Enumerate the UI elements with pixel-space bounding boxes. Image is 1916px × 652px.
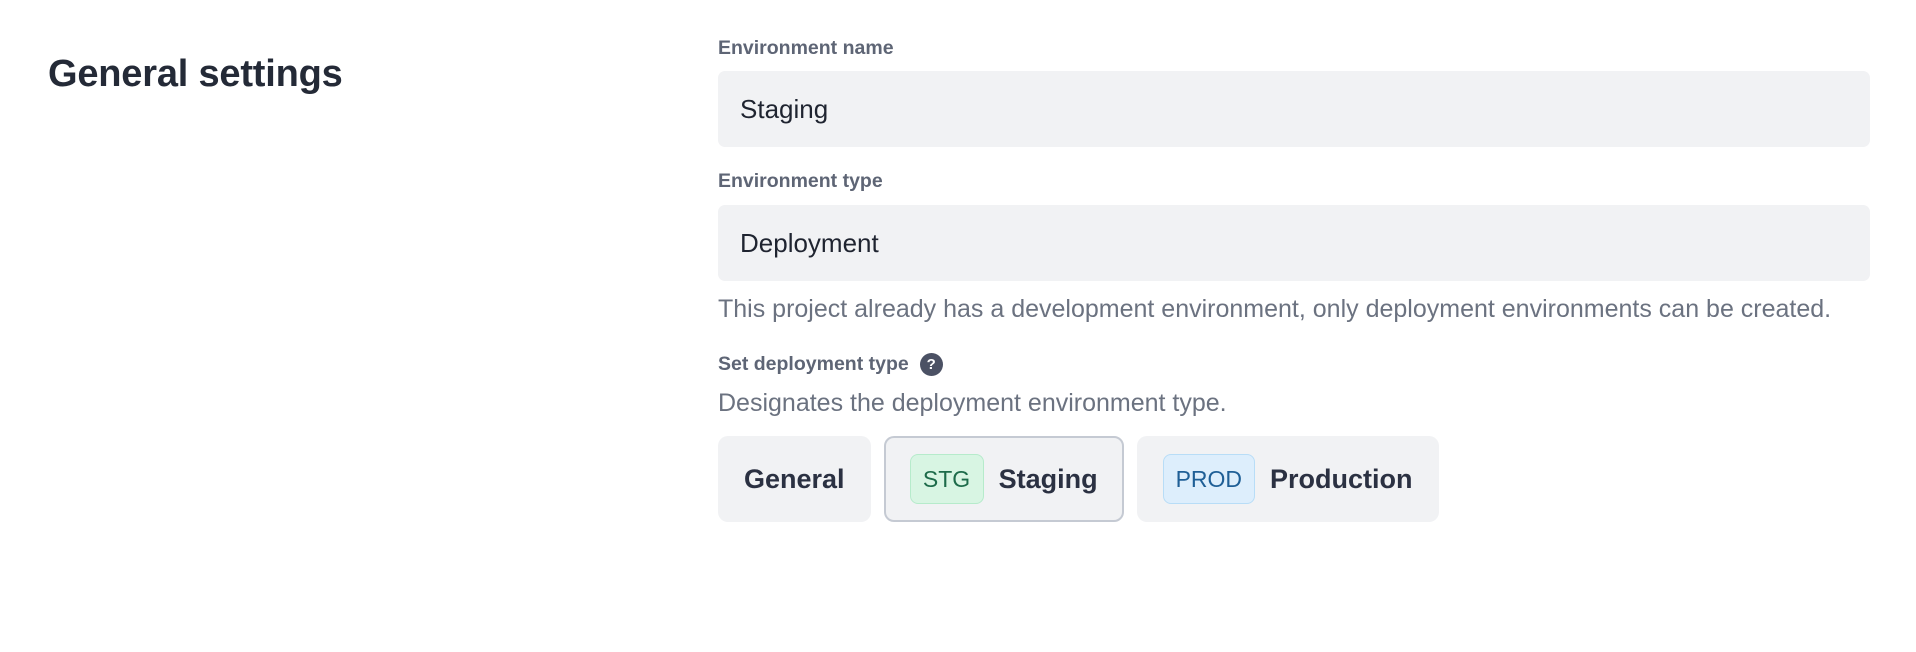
environment-name-label: Environment name [718,36,1870,61]
deployment-type-option-production[interactable]: PROD Production [1137,436,1439,522]
environment-type-helper-text: This project already has a development e… [718,293,1838,326]
environment-name-field: Environment name [718,36,1870,147]
deployment-type-label: Set deployment type [718,352,909,377]
environment-type-input[interactable] [718,205,1870,281]
environment-name-input[interactable] [718,71,1870,147]
deployment-type-option-general-label: General [744,466,845,493]
deployment-type-label-row: Set deployment type ? [718,352,1870,377]
help-circle-icon[interactable]: ? [920,353,943,376]
environment-type-label: Environment type [718,169,1870,194]
environment-type-field: Environment type This project already ha… [718,169,1870,325]
deployment-type-option-production-label: Production [1270,466,1413,493]
deployment-type-option-group: General STG Staging PROD Production [718,436,1870,522]
settings-form: Environment name Environment type This p… [718,36,1870,522]
prod-badge: PROD [1163,454,1255,504]
deployment-type-field: Set deployment type ? Designates the dep… [718,352,1870,522]
deployment-type-option-general[interactable]: General [718,436,871,522]
stg-badge: STG [910,454,984,504]
deployment-type-option-staging[interactable]: STG Staging [884,436,1124,522]
deployment-type-description: Designates the deployment environment ty… [718,387,1870,420]
general-settings-page: General settings Environment name Enviro… [0,0,1916,652]
deployment-type-option-staging-label: Staging [999,466,1098,493]
page-title: General settings [48,51,343,99]
